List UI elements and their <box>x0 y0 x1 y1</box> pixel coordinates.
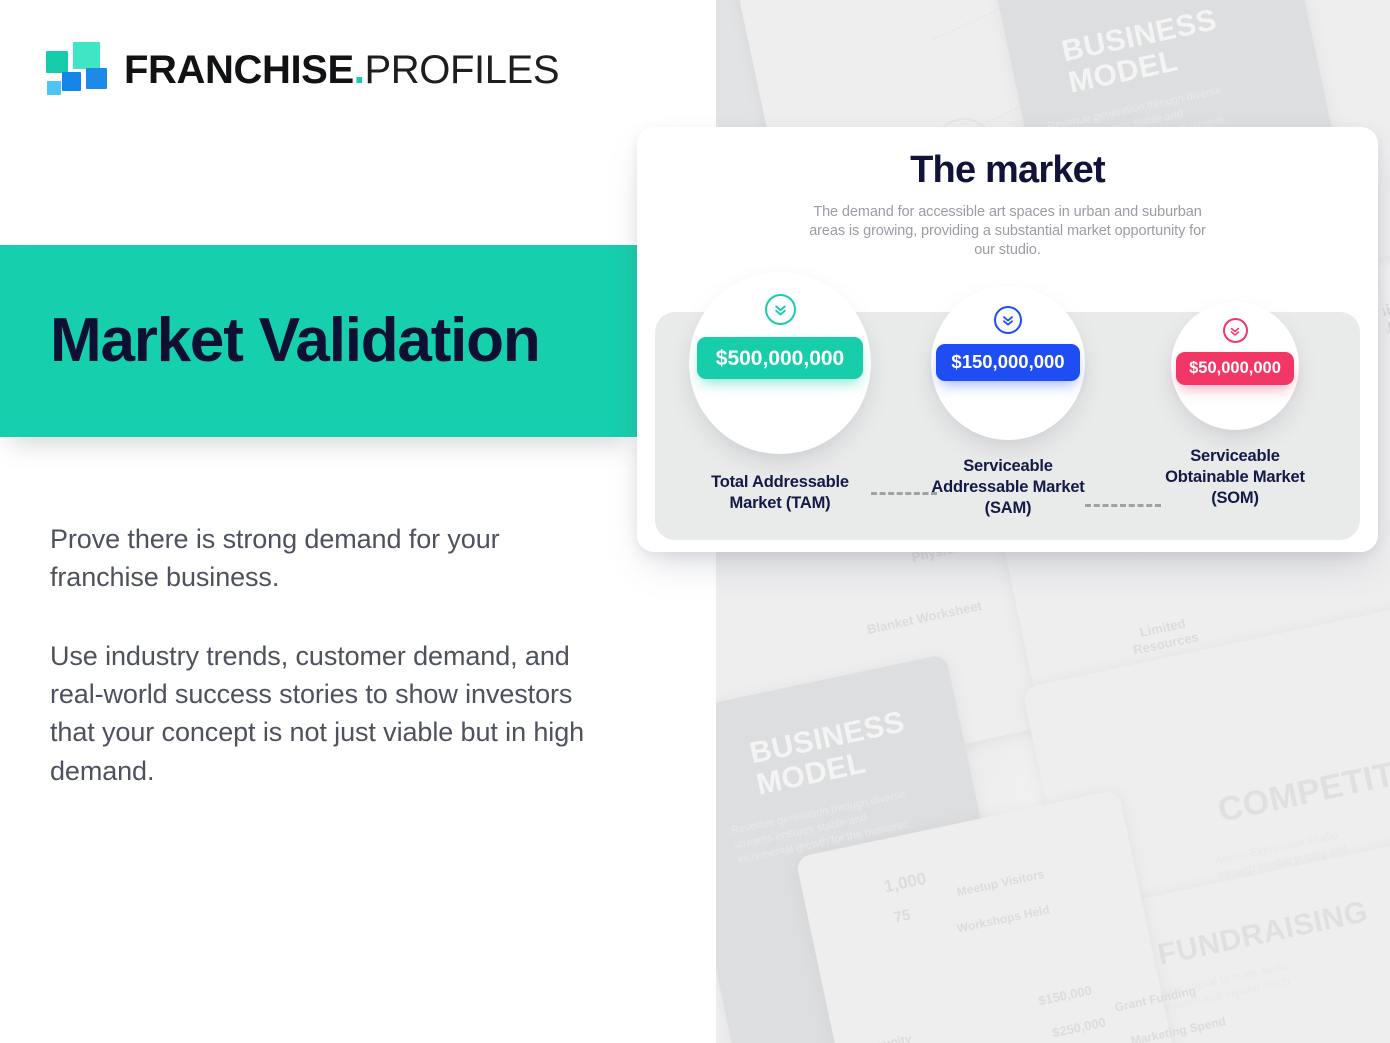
market-card-title: The market <box>637 151 1378 191</box>
tier-label: Serviceable Obtainable Market (SOM) <box>1110 446 1360 509</box>
tier-label: Total Addressable Market (TAM) <box>655 472 905 514</box>
tier-circle: $500,000,000 <box>689 272 871 454</box>
market-tier-sam[interactable]: $150,000,000 Serviceable Addressable Mar… <box>893 286 1123 519</box>
market-tiers: $500,000,000 Total Addressable Market (T… <box>655 272 1360 540</box>
brand-logo: FRANCHISE.PROFILES <box>46 42 559 98</box>
tier-value-badge: $500,000,000 <box>697 337 863 379</box>
tier-label: Serviceable Addressable Market (SAM) <box>893 456 1123 519</box>
market-tier-som[interactable]: $50,000,000 Serviceable Obtainable Marke… <box>1110 302 1360 509</box>
market-card-header: The market The demand for accessible art… <box>637 127 1378 259</box>
headline-banner: Market Validation <box>0 245 637 437</box>
brand-name-light: PROFILES <box>364 48 559 92</box>
tier-value-badge: $150,000,000 <box>936 344 1079 381</box>
five-squares-logo-icon <box>46 42 108 98</box>
market-tier-tam[interactable]: $500,000,000 Total Addressable Market (T… <box>655 272 905 514</box>
brand-name-bold: FRANCHISE <box>124 48 354 92</box>
paragraph-1: Prove there is strong demand for your fr… <box>50 520 590 597</box>
brand-name-dot: . <box>354 48 365 92</box>
double-chevron-down-icon[interactable] <box>1223 318 1248 343</box>
page-title: Market Validation <box>50 310 540 372</box>
tier-connector-sam-som <box>1085 504 1161 507</box>
double-chevron-down-icon[interactable] <box>765 294 796 325</box>
paragraph-2: Use industry trends, customer demand, an… <box>50 637 590 790</box>
tier-value-badge: $50,000,000 <box>1176 352 1294 385</box>
ghost-slide-metric: 75 <box>892 906 912 927</box>
market-card: The market The demand for accessible art… <box>637 127 1378 552</box>
tier-circle: $150,000,000 <box>931 286 1085 440</box>
brand-wordmark: FRANCHISE.PROFILES <box>124 50 559 90</box>
tier-connector-tam-sam <box>871 492 937 495</box>
market-card-subtitle: The demand for accessible art spaces in … <box>808 203 1208 260</box>
tier-circle: $50,000,000 <box>1171 302 1299 430</box>
body-copy: Prove there is strong demand for your fr… <box>50 520 590 790</box>
double-chevron-down-icon[interactable] <box>994 306 1022 334</box>
